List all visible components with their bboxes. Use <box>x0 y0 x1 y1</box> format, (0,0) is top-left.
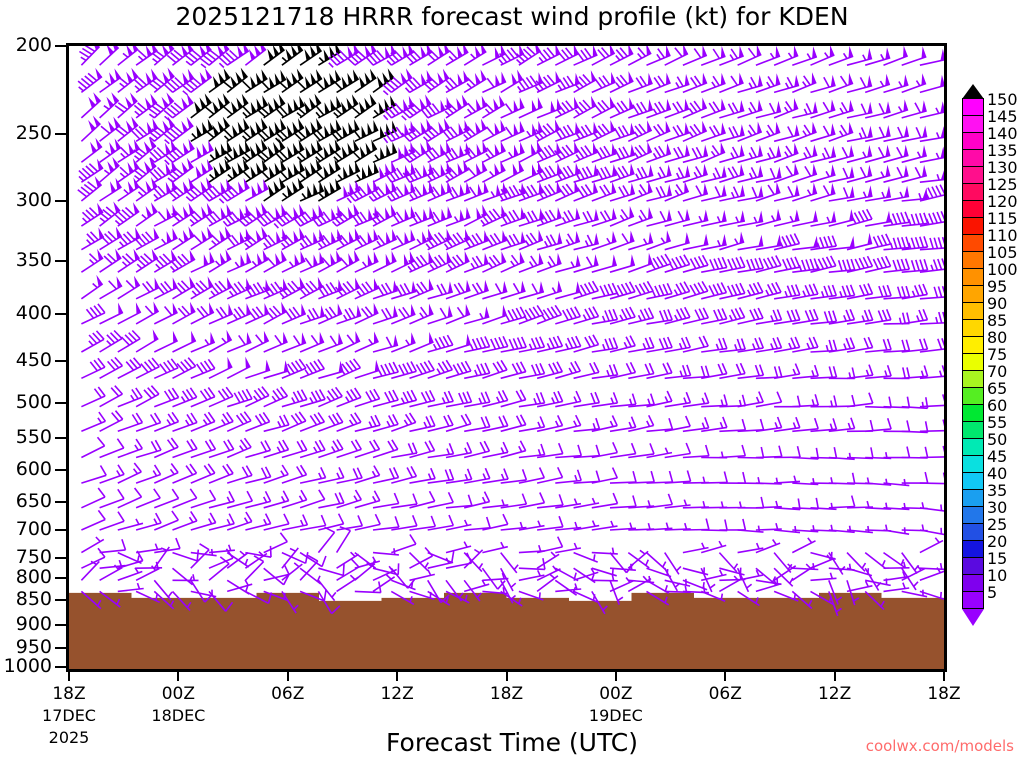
wind-barb <box>719 576 742 591</box>
wind-barb <box>154 331 177 352</box>
wind-barb <box>574 591 598 602</box>
y-tick-label: 750 <box>0 546 52 568</box>
wind-barb <box>847 581 872 591</box>
y-tick-mark <box>55 529 67 531</box>
wind-barb <box>264 568 289 585</box>
wind-barb <box>555 46 578 65</box>
wind-barb <box>154 412 178 431</box>
wind-barb <box>118 46 138 65</box>
colorbar-swatch <box>962 387 984 405</box>
colorbar-swatch <box>962 183 984 201</box>
wind-barb <box>100 249 122 273</box>
wind-barb <box>118 583 144 591</box>
colorbar-swatch <box>962 353 984 371</box>
wind-barb <box>519 305 543 324</box>
x-tick-mark <box>396 672 398 681</box>
wind-barb <box>884 313 910 324</box>
colorbar-swatch <box>962 285 984 303</box>
wind-barb <box>355 582 381 593</box>
wind-barb <box>373 305 398 324</box>
wind-barb <box>370 204 397 226</box>
wind-barb <box>173 489 197 508</box>
wind-barb <box>410 361 435 379</box>
wind-barb <box>282 412 306 431</box>
wind-barb <box>446 414 471 431</box>
wind-barb <box>574 498 600 508</box>
wind-barb <box>464 46 486 65</box>
x-tick-label: 12Z <box>357 684 437 704</box>
wind-barb <box>173 550 199 561</box>
wind-barb <box>610 471 636 483</box>
wind-barb <box>756 446 782 458</box>
wind-barb <box>884 553 905 568</box>
wind-barb <box>81 437 104 457</box>
colorbar-swatch <box>962 472 984 490</box>
wind-barb <box>136 329 158 352</box>
wind-barb <box>331 119 360 141</box>
wind-barb <box>227 438 251 457</box>
wind-barb <box>297 69 322 92</box>
wind-barb <box>665 255 690 273</box>
x-tick-mark <box>615 672 617 681</box>
wind-barb <box>501 553 518 573</box>
y-tick-label: 550 <box>0 426 52 448</box>
wind-barb <box>115 202 139 226</box>
wind-barb <box>482 360 507 378</box>
wind-barb <box>811 573 837 581</box>
wind-barb <box>482 72 506 93</box>
wind-barb <box>173 591 191 610</box>
wind-barb <box>282 390 307 407</box>
y-tick-mark <box>55 577 67 579</box>
wind-barb <box>519 591 544 600</box>
wind-barb <box>920 538 943 553</box>
wind-barb <box>464 517 490 530</box>
wind-barb <box>154 228 177 250</box>
wind-barb <box>118 358 141 379</box>
y-tick-label: 800 <box>0 566 52 588</box>
y-tick-label: 900 <box>0 613 52 635</box>
x-tick-mark <box>68 672 70 681</box>
colorbar-swatch <box>962 591 984 609</box>
x-tick-label: 00Z <box>576 684 656 704</box>
wind-barb <box>136 249 158 273</box>
wind-barb <box>136 513 161 530</box>
y-tick-mark <box>55 666 67 668</box>
wind-barb <box>410 548 433 569</box>
wind-barb <box>191 544 209 568</box>
wind-barb <box>792 394 818 406</box>
wind-barb <box>318 279 342 299</box>
wind-barb <box>282 304 306 324</box>
wind-barb <box>592 468 618 484</box>
wind-barb <box>902 525 928 531</box>
colorbar-swatch <box>962 251 984 269</box>
wind-barb <box>282 46 303 65</box>
y-tick-mark <box>55 469 67 471</box>
colorbar-swatch <box>962 166 984 184</box>
wind-barb <box>118 413 143 431</box>
wind-barb <box>318 580 335 600</box>
wind-barb <box>100 539 126 552</box>
wind-barb <box>264 250 287 272</box>
y-tick-label: 600 <box>0 458 52 480</box>
wind-barb <box>647 591 669 605</box>
wind-barb <box>173 568 193 585</box>
wind-barb <box>701 395 727 407</box>
wind-barb <box>154 511 178 530</box>
wind-barb <box>647 448 673 458</box>
wind-barb <box>719 419 745 431</box>
x-tick-mark <box>506 672 508 681</box>
wind-barb <box>537 574 558 591</box>
wind-barb <box>391 591 414 604</box>
wind-barb <box>347 46 377 65</box>
wind-barb <box>902 447 928 458</box>
wind-barb <box>719 472 745 483</box>
wind-barb <box>446 553 472 568</box>
wind-barb <box>173 388 197 407</box>
wind-barb <box>355 251 379 272</box>
wind-barb <box>665 471 691 484</box>
wind-barb <box>647 46 671 65</box>
wind-barb <box>282 465 307 483</box>
wind-barb <box>920 473 944 484</box>
wind-barb <box>373 142 397 163</box>
wind-barb <box>920 446 944 458</box>
wind-barb <box>136 358 159 378</box>
wind-barb <box>100 46 119 65</box>
wind-barb <box>81 488 105 508</box>
wind-barb <box>811 340 837 352</box>
wind-barb <box>774 446 800 457</box>
wind-barb <box>209 591 233 611</box>
wind-barb <box>191 93 212 118</box>
wind-barb <box>555 73 579 93</box>
wind-barb <box>719 519 745 530</box>
wind-barb <box>537 516 563 530</box>
wind-barb <box>337 527 351 553</box>
wind-barb <box>384 96 415 120</box>
wind-barb <box>245 179 268 201</box>
wind-barb <box>136 278 159 299</box>
colorbar-swatch <box>962 234 984 252</box>
wind-barb <box>219 178 249 203</box>
wind-barb <box>191 227 213 250</box>
wind-barb <box>501 97 525 118</box>
x-tick-mark <box>724 672 726 681</box>
wind-barb <box>100 227 122 250</box>
wind-barb <box>446 591 469 602</box>
x-tick-label: 06Z <box>685 684 765 704</box>
wind-barb <box>81 304 105 324</box>
wind-barb <box>610 496 636 508</box>
wind-barb <box>574 70 597 92</box>
wind-barb <box>410 206 434 226</box>
y-tick-mark <box>55 260 67 262</box>
wind-barb <box>118 276 140 299</box>
wind-barb <box>227 332 251 352</box>
wind-barb <box>100 465 125 483</box>
wind-barb <box>219 46 249 68</box>
wind-barb <box>118 227 141 249</box>
wind-barb <box>811 447 837 458</box>
wind-barb <box>865 591 884 609</box>
wind-barb <box>245 387 269 407</box>
wind-barb <box>628 576 651 591</box>
wind-barb <box>847 393 873 407</box>
wind-barb <box>318 387 342 406</box>
wind-barb <box>920 312 944 324</box>
wind-barb <box>154 388 178 407</box>
wind-barb <box>100 591 121 607</box>
wind-barb <box>574 46 598 65</box>
wind-barb <box>628 471 654 483</box>
wind-barb <box>391 535 416 553</box>
wind-barb <box>592 493 618 508</box>
wind-barb <box>482 542 507 553</box>
wind-barb <box>318 440 343 458</box>
wind-barb <box>427 46 450 65</box>
wind-barb <box>264 465 289 483</box>
wind-barb <box>628 46 651 65</box>
colorbar-swatch <box>962 557 984 575</box>
y-tick-label: 400 <box>0 302 52 324</box>
wind-barb <box>665 443 691 458</box>
colorbar-swatch <box>962 149 984 167</box>
watermark-link[interactable]: coolwx.com/models <box>866 737 1014 755</box>
wind-barb <box>300 490 325 508</box>
wind-barb <box>136 413 161 431</box>
colorbar-swatch <box>962 302 984 320</box>
colorbar-swatch <box>962 336 984 354</box>
x-tick-mark <box>943 672 945 681</box>
y-tick-mark <box>55 360 67 362</box>
wind-barb <box>610 97 634 118</box>
wind-barb <box>428 580 450 602</box>
wind-barb <box>537 305 561 324</box>
wind-barb <box>318 527 334 552</box>
colorbar-swatch <box>962 132 984 150</box>
wind-barb <box>245 46 266 65</box>
wind-barb <box>81 116 100 142</box>
wind-barb <box>264 440 289 458</box>
wind-barb <box>81 466 106 484</box>
wind-barb <box>428 181 452 201</box>
wind-barb <box>701 541 726 553</box>
y-tick-label: 300 <box>0 189 52 211</box>
wind-profile-chart: 2025121718 HRRR forecast wind profile (k… <box>0 0 1024 768</box>
wind-barb <box>519 558 545 569</box>
colorbar-swatch <box>962 574 984 592</box>
wind-barb <box>391 206 415 226</box>
wind-barb <box>81 249 103 272</box>
wind-barb <box>300 440 325 457</box>
wind-barb <box>865 397 891 408</box>
y-tick-label: 350 <box>0 249 52 271</box>
wind-barb <box>555 361 580 378</box>
wind-barb <box>205 93 229 118</box>
wind-barb <box>282 490 307 508</box>
wind-barb <box>537 552 559 568</box>
colorbar-swatch <box>962 404 984 422</box>
wind-barb <box>428 558 453 568</box>
wind-barb <box>243 159 268 182</box>
wind-barb <box>81 331 104 352</box>
wind-barb <box>118 249 140 273</box>
wind-barb <box>501 121 525 142</box>
wind-barb <box>300 556 318 581</box>
wind-barb <box>100 439 124 458</box>
y-tick-mark <box>55 557 67 559</box>
wind-barb <box>537 566 560 580</box>
wind-barb <box>136 202 157 226</box>
wind-barb <box>227 412 251 432</box>
wind-barb <box>756 182 781 201</box>
wind-barb <box>610 123 635 142</box>
wind-barb <box>756 540 780 553</box>
wind-barb <box>446 46 468 65</box>
wind-barb <box>355 491 380 508</box>
wind-barb <box>403 162 433 182</box>
wind-barb <box>355 440 380 458</box>
wind-barb <box>829 496 855 508</box>
wind-barb <box>683 255 708 272</box>
wind-barb <box>300 553 326 567</box>
wind-barb <box>628 281 653 299</box>
wind-barb <box>191 119 213 142</box>
wind-barb <box>574 553 598 563</box>
wind-barb <box>264 491 289 508</box>
wind-barb <box>537 142 561 162</box>
wind-barb <box>337 552 359 568</box>
wind-barb <box>100 138 121 162</box>
wind-barb <box>209 68 230 92</box>
colorbar-swatch <box>962 540 984 558</box>
wind-barb <box>373 575 395 592</box>
wind-barb <box>410 570 435 581</box>
x-tick-date: 17DEC <box>29 706 109 725</box>
wind-barb <box>385 162 415 182</box>
wind-barb <box>227 252 251 272</box>
wind-barb <box>318 46 340 65</box>
wind-barb <box>115 92 137 118</box>
wind-barb <box>501 591 523 606</box>
wind-barb <box>300 46 322 65</box>
wind-barb <box>135 69 158 93</box>
wind-barb <box>227 580 252 592</box>
wind-barb <box>134 94 157 118</box>
wind-barb <box>209 277 232 299</box>
wind-barb <box>337 413 361 432</box>
wind-barb <box>300 181 324 202</box>
wind-barb <box>316 96 341 118</box>
wind-barb <box>683 281 708 298</box>
colorbar-swatch <box>962 98 984 116</box>
wind-barb <box>282 552 308 563</box>
y-tick-mark <box>55 313 67 315</box>
wind-barb <box>261 70 286 93</box>
wind-barb <box>574 335 599 352</box>
wind-barb <box>78 176 102 201</box>
y-tick-label: 250 <box>0 122 52 144</box>
colorbar-swatch <box>962 438 984 456</box>
y-tick-mark <box>55 624 67 626</box>
colorbar-swatch <box>962 370 984 388</box>
wind-barb <box>592 591 608 613</box>
wind-barb <box>683 46 707 65</box>
colorbar-swatch <box>962 319 984 337</box>
wind-barb <box>792 538 815 553</box>
wind-barb <box>446 182 470 201</box>
wind-barb <box>683 445 709 458</box>
wind-barb <box>610 580 623 604</box>
wind-barb <box>154 438 178 458</box>
wind-barb <box>136 386 159 407</box>
wind-barb <box>209 440 234 458</box>
wind-barb <box>446 70 469 92</box>
x-tick-label: 06Z <box>248 684 328 704</box>
wind-barb <box>191 440 216 458</box>
wind-barb <box>191 140 214 162</box>
x-tick-label: 00Z <box>138 684 218 704</box>
x-tick-label: 18Z <box>904 684 984 704</box>
wind-barb <box>884 397 910 408</box>
wind-barb <box>118 331 140 353</box>
wind-barb <box>300 390 325 407</box>
colorbar-swatch <box>962 421 984 439</box>
wind-barb <box>333 204 360 227</box>
wind-barb <box>428 360 453 378</box>
wind-barb <box>865 553 886 569</box>
wind-barb <box>665 500 691 508</box>
wind-barb <box>337 440 362 458</box>
wind-barb <box>264 46 285 65</box>
wind-barb <box>610 46 633 65</box>
y-tick-label: 850 <box>0 588 52 610</box>
wind-barb <box>100 276 123 299</box>
wind-barb <box>81 510 105 530</box>
wind-barb <box>81 591 101 608</box>
wind-barb <box>519 521 545 530</box>
x-tick-mark <box>287 672 289 681</box>
wind-barb <box>264 533 288 553</box>
wind-barb <box>847 580 859 605</box>
wind-barb <box>865 418 891 431</box>
wind-barb <box>592 72 616 93</box>
wind-barb <box>884 562 910 568</box>
wind-barb <box>118 388 142 407</box>
wind-barb <box>574 96 597 118</box>
y-tick-mark <box>55 501 67 503</box>
wind-barb <box>191 359 215 378</box>
wind-barb <box>555 584 581 592</box>
wind-barb <box>446 520 471 530</box>
y-tick-mark <box>55 133 67 135</box>
wind-barb <box>555 122 579 141</box>
wind-barb <box>118 139 140 162</box>
wind-barb <box>446 542 471 553</box>
wind-barb <box>118 177 140 201</box>
wind-barb <box>81 387 105 407</box>
wind-barb <box>282 440 307 457</box>
wind-barb <box>373 335 398 353</box>
wind-barb <box>81 412 105 431</box>
colorbar-over-arrow <box>962 84 984 99</box>
wind-barb <box>501 142 525 162</box>
colorbar-swatch <box>962 523 984 541</box>
wind-barb <box>738 526 764 533</box>
